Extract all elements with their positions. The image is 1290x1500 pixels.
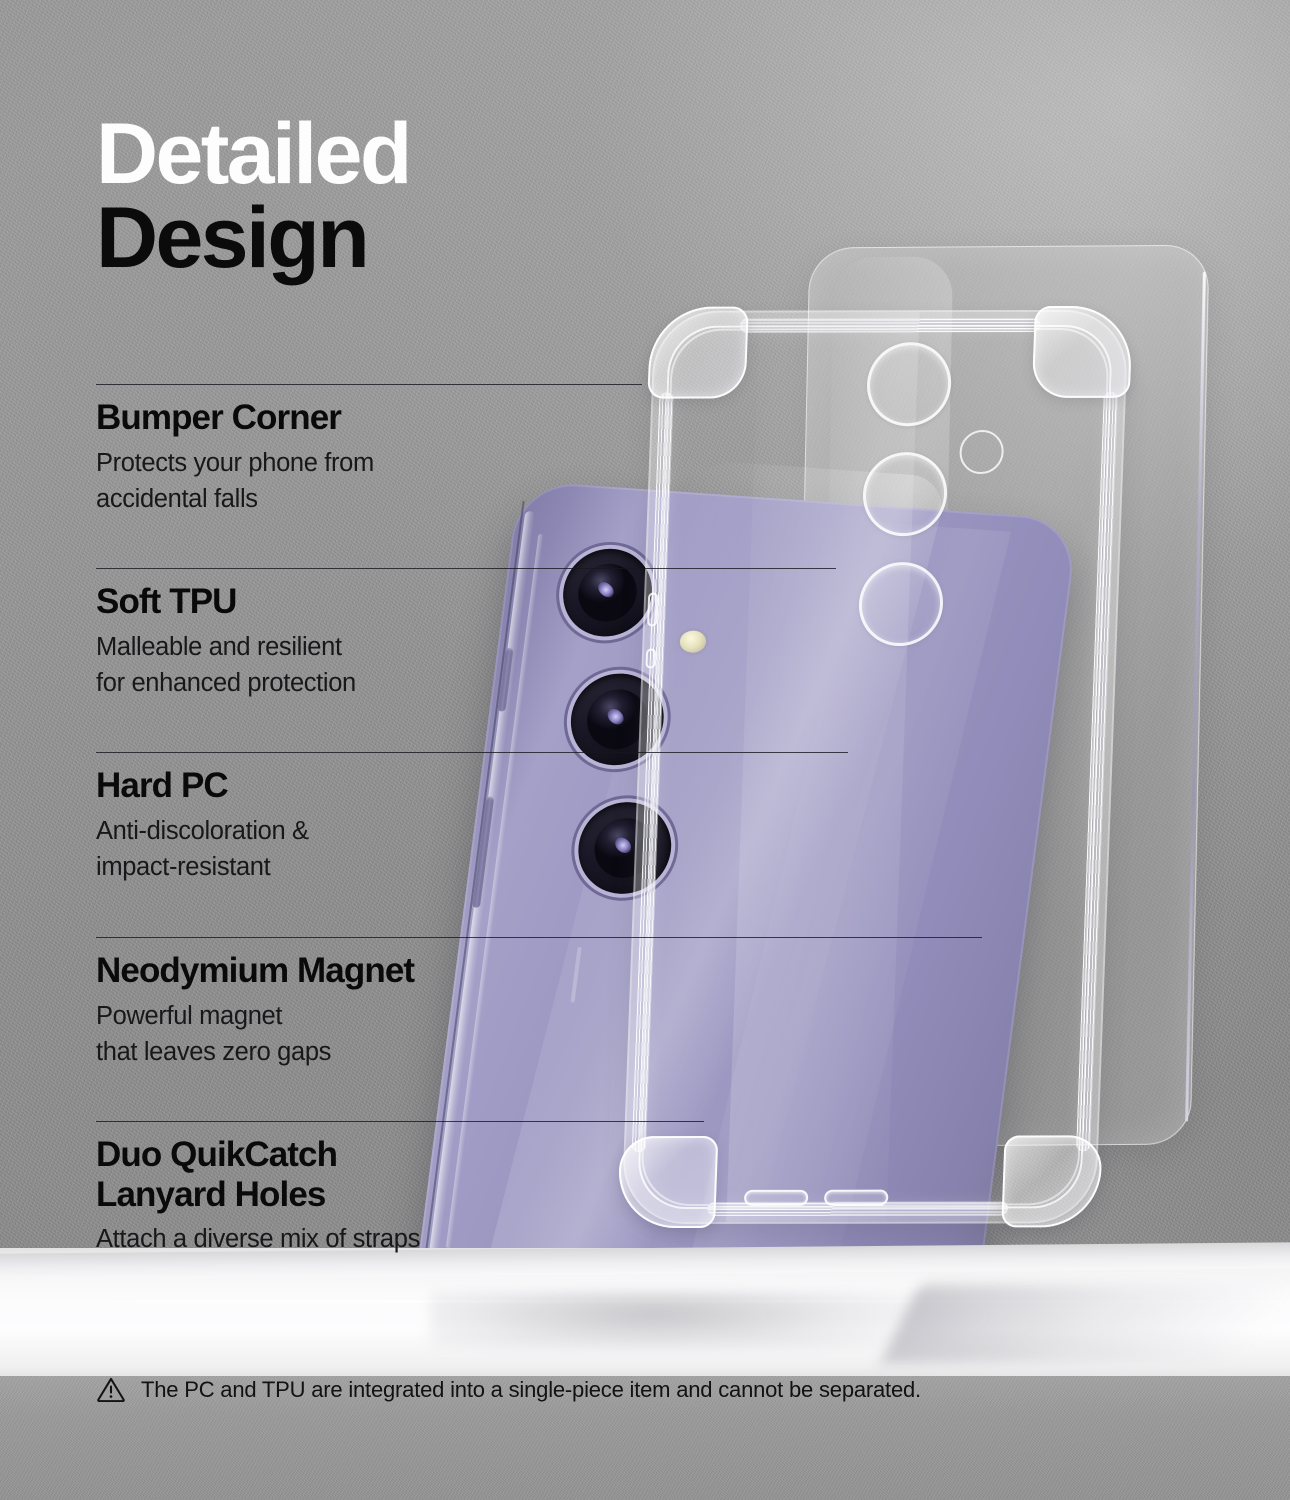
feature-item-hard-pc: Hard PC Anti-discoloration & impact-resi… bbox=[96, 766, 309, 885]
feature-title: Neodymium Magnet bbox=[96, 951, 414, 991]
feature-description: Powerful magnet that leaves zero gaps bbox=[96, 998, 414, 1070]
feature-item-neodymium-magnet: Neodymium Magnet Powerful magnet that le… bbox=[96, 951, 414, 1070]
feature-title: Hard PC bbox=[96, 766, 309, 806]
feature-item-lanyard-holes: Duo QuikCatch Lanyard Holes Attach a div… bbox=[96, 1135, 420, 1257]
feature-item-bumper-corner: Bumper Corner Protects your phone from a… bbox=[96, 398, 374, 517]
feature-item-soft-tpu: Soft TPU Malleable and resilient for enh… bbox=[96, 582, 356, 701]
product-detail-image: Detailed Design Bumper Corner Protects y… bbox=[0, 0, 1290, 1500]
feature-title: Soft TPU bbox=[96, 582, 356, 622]
feature-description: Anti-discoloration & impact-resistant bbox=[96, 813, 309, 885]
feature-title: Duo QuikCatch Lanyard Holes bbox=[96, 1135, 420, 1214]
feature-list: Bumper Corner Protects your phone from a… bbox=[0, 0, 1290, 1500]
feature-description: Attach a diverse mix of straps bbox=[96, 1221, 420, 1257]
warning-triangle-icon bbox=[96, 1375, 126, 1405]
footnote-text: The PC and TPU are integrated into a sin… bbox=[141, 1377, 921, 1403]
feature-description: Protects your phone from accidental fall… bbox=[96, 445, 374, 517]
feature-title: Bumper Corner bbox=[96, 398, 374, 438]
feature-description: Malleable and resilient for enhanced pro… bbox=[96, 629, 356, 701]
footnote: The PC and TPU are integrated into a sin… bbox=[96, 1375, 921, 1405]
